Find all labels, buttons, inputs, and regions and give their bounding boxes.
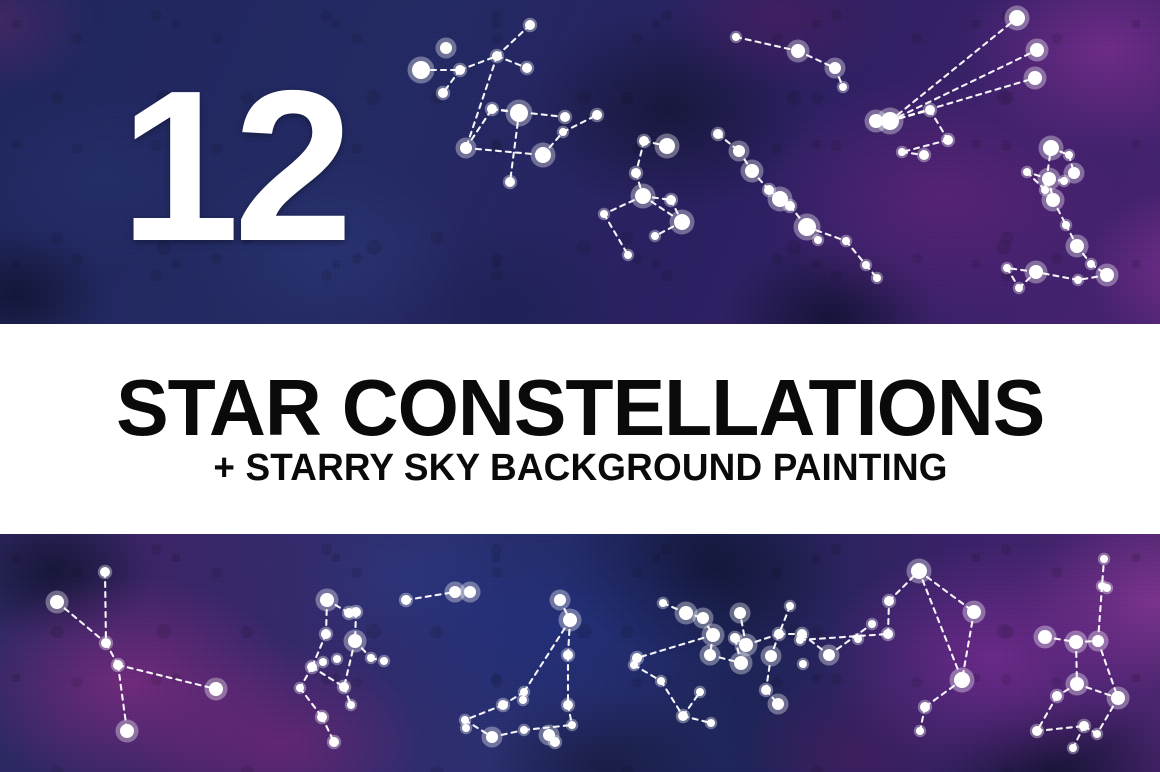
star-node	[919, 150, 929, 160]
star-node	[911, 563, 927, 579]
star-node	[1111, 691, 1125, 705]
star-node	[679, 606, 693, 620]
star-node	[630, 661, 638, 669]
count-badge: 12	[120, 58, 347, 273]
star-node	[120, 724, 134, 738]
star-node	[535, 147, 551, 163]
star-node	[1079, 721, 1089, 731]
star-node	[563, 700, 573, 710]
star-node	[829, 62, 841, 74]
star-node	[1070, 677, 1084, 691]
figure-9	[459, 590, 582, 750]
star-node	[401, 595, 411, 605]
star-node	[320, 593, 334, 607]
star-node	[657, 677, 665, 685]
star-node	[704, 649, 716, 661]
figure-10	[628, 597, 878, 729]
star-node	[696, 688, 704, 696]
sky-band-top: 12	[0, 0, 1160, 324]
star-node	[1029, 265, 1043, 279]
star-node	[785, 201, 795, 211]
star-node	[842, 237, 850, 245]
star-node	[651, 232, 659, 240]
star-node	[869, 114, 883, 128]
star-node	[1023, 168, 1031, 176]
star-node	[733, 145, 745, 157]
star-node	[568, 721, 576, 729]
star-node	[1042, 172, 1056, 186]
star-node	[1030, 43, 1044, 57]
star-node	[706, 628, 720, 642]
star-node	[1038, 630, 1052, 644]
star-node	[772, 698, 784, 710]
star-node	[1070, 239, 1084, 253]
star-node	[678, 711, 688, 721]
star-node	[559, 128, 567, 136]
star-node	[520, 726, 528, 734]
star-node	[519, 696, 527, 704]
star-node	[873, 274, 881, 282]
star-node	[319, 658, 327, 666]
star-node	[1060, 177, 1068, 185]
star-node	[739, 638, 753, 652]
star-node	[774, 629, 784, 639]
star-node	[1069, 744, 1077, 752]
star-node	[659, 599, 667, 607]
star-node	[734, 607, 746, 619]
star-node	[791, 44, 805, 58]
figure-8	[399, 582, 481, 608]
star-node	[823, 649, 835, 661]
star-node	[631, 168, 641, 178]
star-node	[563, 650, 573, 660]
star-node	[697, 612, 709, 624]
star-node	[624, 251, 632, 259]
sky-band-bottom	[0, 534, 1160, 772]
star-node	[967, 605, 981, 619]
star-node	[321, 629, 331, 639]
star-node	[462, 724, 470, 732]
constellation-line	[604, 214, 628, 255]
star-node	[317, 712, 327, 722]
star-node	[798, 218, 816, 236]
star-node	[600, 210, 608, 218]
constellation-line	[118, 665, 216, 689]
star-node	[761, 685, 771, 695]
star-node	[1092, 635, 1104, 647]
poster-canvas: 12 STAR CONSTELLATIONS + STARRY SKY BACK…	[0, 0, 1160, 772]
star-node	[1032, 726, 1042, 736]
star-node	[380, 657, 388, 665]
star-node	[525, 20, 535, 30]
star-node	[464, 586, 476, 598]
star-node	[550, 737, 560, 747]
figure-4	[730, 6, 1049, 163]
star-node	[954, 672, 970, 688]
star-node	[486, 731, 498, 743]
star-node	[734, 656, 748, 670]
constellation-line	[105, 572, 106, 643]
star-node	[563, 613, 577, 627]
figure-1	[408, 18, 605, 189]
star-node	[1046, 193, 1060, 207]
constellation-line	[890, 78, 1035, 121]
title-panel: STAR CONSTELLATIONS + STARRY SKY BACKGRO…	[0, 324, 1160, 534]
star-node	[745, 164, 759, 178]
star-node	[113, 660, 123, 670]
star-node	[592, 110, 602, 120]
star-node	[635, 188, 651, 204]
star-node	[455, 65, 465, 75]
star-node	[920, 702, 930, 712]
figure-2	[598, 134, 695, 262]
star-node	[796, 636, 804, 644]
star-node	[412, 61, 430, 79]
star-node	[1093, 730, 1101, 738]
star-node	[1098, 582, 1106, 590]
star-node	[1052, 691, 1062, 701]
star-node	[898, 148, 906, 156]
star-node	[347, 701, 355, 709]
star-node	[339, 682, 349, 692]
star-node	[1100, 555, 1108, 563]
constellation-map-bottom	[0, 534, 1160, 772]
star-node	[209, 682, 223, 696]
star-node	[522, 63, 532, 73]
star-node	[554, 594, 566, 606]
star-node	[560, 112, 570, 122]
star-node	[100, 567, 110, 577]
figure-12	[1030, 553, 1130, 754]
star-node	[943, 135, 953, 145]
star-node	[101, 638, 111, 648]
star-node	[487, 104, 497, 114]
star-node	[765, 650, 777, 662]
star-node	[713, 129, 723, 139]
star-node	[307, 662, 317, 672]
figure-7	[294, 589, 390, 750]
star-node	[296, 684, 304, 692]
star-node	[883, 629, 893, 639]
figure-5	[1001, 136, 1119, 295]
star-node	[460, 142, 472, 154]
star-node	[510, 104, 528, 122]
star-node	[50, 595, 64, 609]
star-node	[1062, 221, 1070, 229]
star-node	[1009, 10, 1025, 26]
star-node	[862, 261, 870, 269]
star-node	[492, 51, 502, 61]
star-node	[348, 634, 362, 648]
star-node	[1043, 140, 1059, 156]
star-node	[659, 138, 675, 154]
star-node	[814, 236, 822, 244]
star-node	[1069, 635, 1083, 649]
figure-6	[46, 565, 228, 743]
star-node	[666, 195, 676, 205]
star-node	[333, 655, 341, 663]
star-node	[639, 136, 649, 146]
star-node	[438, 88, 448, 98]
star-node	[1028, 71, 1042, 85]
star-node	[351, 607, 361, 617]
star-node	[884, 596, 894, 606]
star-node	[1015, 284, 1023, 292]
star-node	[1100, 268, 1114, 282]
constellation-line	[1098, 559, 1104, 641]
star-node	[1003, 264, 1011, 272]
star-node	[674, 214, 690, 230]
figure-3	[711, 127, 883, 284]
constellation-line	[800, 634, 888, 640]
star-node	[925, 105, 935, 115]
star-node	[440, 42, 452, 54]
constellation-line	[919, 571, 962, 680]
star-node	[329, 737, 339, 747]
star-node	[868, 620, 876, 628]
star-node	[732, 33, 740, 41]
star-node	[1065, 151, 1073, 159]
page-subtitle: + STARRY SKY BACKGROUND PAINTING	[213, 449, 947, 487]
star-node	[505, 177, 515, 187]
star-node	[916, 727, 924, 735]
star-node	[1068, 167, 1080, 179]
star-node	[786, 602, 794, 610]
star-node	[839, 83, 847, 91]
star-node	[1087, 260, 1095, 268]
star-node	[449, 586, 461, 598]
star-node	[1074, 276, 1082, 284]
star-node	[707, 719, 715, 727]
star-node	[498, 700, 508, 710]
star-node	[799, 660, 807, 668]
page-title: STAR CONSTELLATIONS	[116, 371, 1044, 445]
star-node	[367, 654, 375, 662]
